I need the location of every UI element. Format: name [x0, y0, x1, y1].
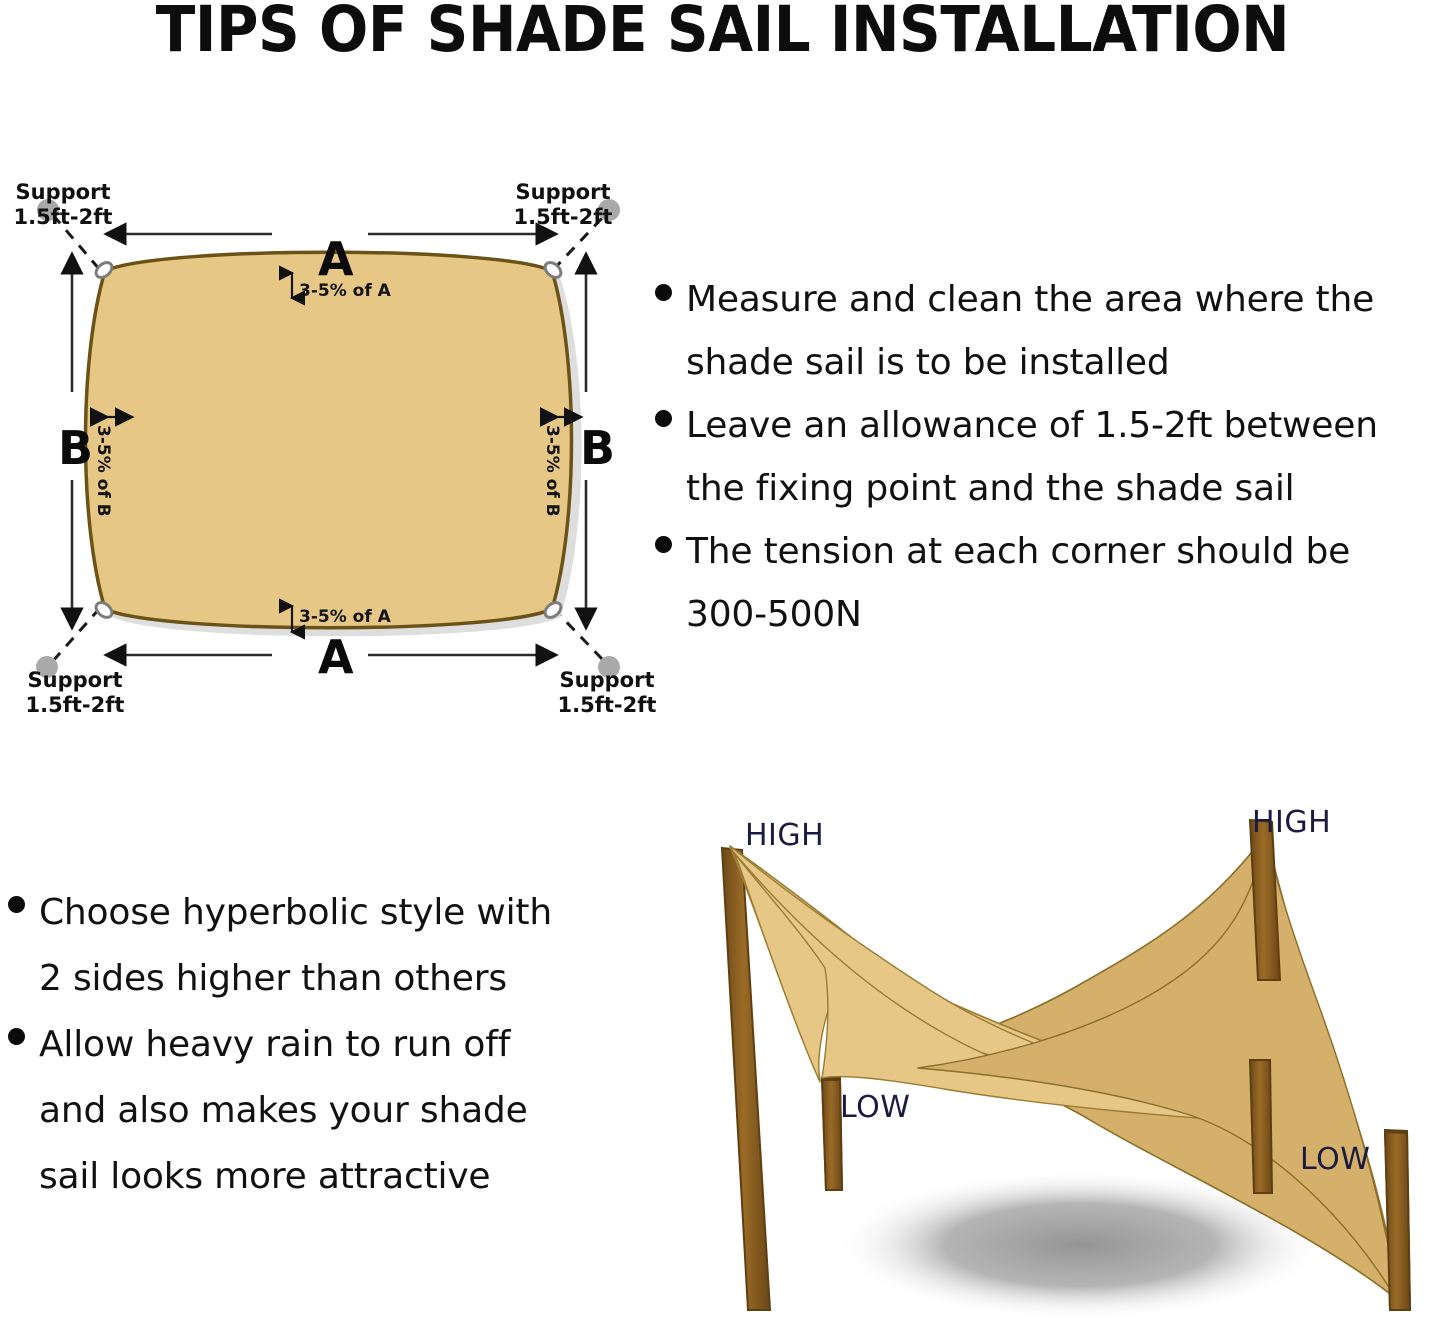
support-label-top-left: Support 1.5ft-2ft — [8, 180, 118, 230]
tip-right-text: the fixing point and the shade sail — [686, 457, 1294, 520]
label-low-right: LOW — [1300, 1142, 1370, 1177]
support-label-line2: 1.5ft-2ft — [508, 205, 618, 230]
label-high-left: HIGH — [745, 818, 824, 853]
curve-label-bottom: 3-5% of A — [299, 609, 391, 626]
tip-left-text: and also makes your shade — [39, 1078, 528, 1144]
support-label-line1: Support — [508, 180, 618, 205]
dim-label-right-B: B — [580, 425, 615, 471]
dim-label-left-B: B — [58, 425, 93, 471]
bullet-spacer — [8, 1160, 25, 1177]
support-label-line1: Support — [552, 668, 662, 693]
tip-right-line: 300-500N — [655, 583, 1445, 646]
bullet-dot-icon — [655, 410, 672, 427]
tip-right-text: The tension at each corner should be — [686, 520, 1350, 583]
bullet-spacer — [655, 473, 672, 490]
tip-left-text: Choose hyperbolic style with — [39, 880, 552, 946]
bullet-dot-icon — [655, 536, 672, 553]
bullet-spacer — [8, 962, 25, 979]
curve-label-left: 3-5% of B — [94, 425, 111, 517]
label-high-right: HIGH — [1252, 805, 1331, 840]
bullet-spacer — [655, 599, 672, 616]
dim-label-top-A: A — [318, 236, 354, 282]
tip-left-line: and also makes your shade — [8, 1078, 638, 1144]
bullet-spacer — [8, 1094, 25, 1111]
tip-left-line: sail looks more attractive — [8, 1144, 638, 1210]
bullet-spacer — [655, 347, 672, 364]
tips-list-right: Measure and clean the area where theshad… — [655, 268, 1445, 646]
bullet-dot-icon — [8, 896, 25, 913]
hyperbolic-sail-diagram — [650, 790, 1445, 1319]
tip-right-text: 300-500N — [686, 583, 862, 646]
tip-left-text: sail looks more attractive — [39, 1144, 490, 1210]
rect-sail-shape — [86, 252, 572, 628]
tip-left-line: Allow heavy rain to run off — [8, 1012, 638, 1078]
support-label-top-right: Support 1.5ft-2ft — [508, 180, 618, 230]
support-label-line2: 1.5ft-2ft — [8, 205, 118, 230]
support-label-line2: 1.5ft-2ft — [20, 693, 130, 718]
tip-right-text: Measure and clean the area where the — [686, 268, 1374, 331]
dim-label-bottom-A: A — [318, 634, 354, 680]
infographic-page: TIPS OF SHADE SAIL INSTALLATION — [0, 0, 1445, 1319]
post-low-middle-front — [1250, 1060, 1272, 1193]
support-label-bottom-left: Support 1.5ft-2ft — [20, 668, 130, 718]
tip-right-text: Leave an allowance of 1.5-2ft between — [686, 394, 1378, 457]
tip-left-text: 2 sides higher than others — [39, 946, 507, 1012]
tip-left-line: 2 sides higher than others — [8, 946, 638, 1012]
tip-right-line: the fixing point and the shade sail — [655, 457, 1445, 520]
curve-label-right: 3-5% of B — [543, 425, 560, 517]
post-low-right-front — [1385, 1132, 1410, 1310]
support-label-line2: 1.5ft-2ft — [552, 693, 662, 718]
tip-right-line: The tension at each corner should be — [655, 520, 1445, 583]
bullet-dot-icon — [655, 284, 672, 301]
tip-left-line: Choose hyperbolic style with — [8, 880, 638, 946]
tip-left-text: Allow heavy rain to run off — [39, 1012, 510, 1078]
support-line-bottom-left — [52, 608, 100, 662]
tip-right-line: Measure and clean the area where the — [655, 268, 1445, 331]
support-line-bottom-right — [553, 608, 604, 661]
support-label-line1: Support — [8, 180, 118, 205]
support-label-line1: Support — [20, 668, 130, 693]
tip-right-text: shade sail is to be installed — [686, 331, 1170, 394]
label-low-left: LOW — [840, 1090, 910, 1125]
page-title: TIPS OF SHADE SAIL INSTALLATION — [58, 0, 1387, 61]
bullet-dot-icon — [8, 1028, 25, 1045]
tip-right-line: shade sail is to be installed — [655, 331, 1445, 394]
support-label-bottom-right: Support 1.5ft-2ft — [552, 668, 662, 718]
tip-right-line: Leave an allowance of 1.5-2ft between — [655, 394, 1445, 457]
post-low-left-front — [822, 1080, 842, 1190]
tips-list-left: Choose hyperbolic style with2 sides high… — [8, 880, 638, 1210]
curve-label-top: 3-5% of A — [299, 283, 391, 300]
